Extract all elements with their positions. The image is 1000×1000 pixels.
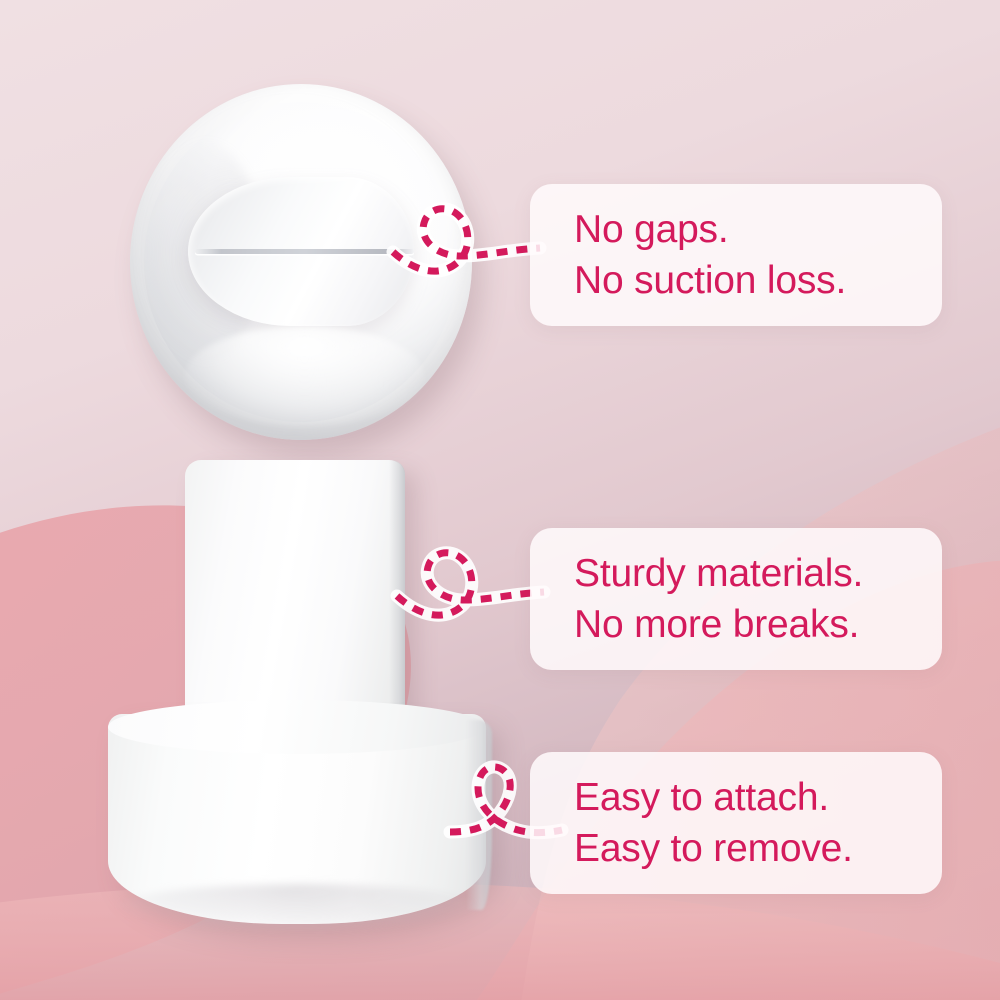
callout-card-sturdy-materials: Sturdy materials. No more breaks. [530, 528, 942, 670]
callout-line-2: Easy to remove. [574, 823, 942, 874]
callout-card-no-gaps: No gaps. No suction loss. [530, 184, 942, 326]
callout-line-1: No gaps. [574, 204, 942, 255]
callout-line-2: No more breaks. [574, 599, 942, 650]
duckbill-slit [195, 249, 414, 254]
valve-base-edge [466, 720, 492, 910]
callout-card-easy-attach: Easy to attach. Easy to remove. [530, 752, 942, 894]
valve-side-view [100, 452, 500, 932]
valve-stem-edge [389, 460, 405, 745]
valve-base-top-rim [108, 700, 486, 754]
callout-line-2: No suction loss. [574, 255, 942, 306]
callout-line-1: Sturdy materials. [574, 548, 942, 599]
valve-top-disc [130, 84, 472, 440]
valve-base-bottom-shadow [118, 884, 476, 930]
infographic-canvas: No gaps. No suction loss. Sturdy materia… [0, 0, 1000, 1000]
valve-top-highlight [185, 326, 424, 426]
callout-line-1: Easy to attach. [574, 772, 942, 823]
